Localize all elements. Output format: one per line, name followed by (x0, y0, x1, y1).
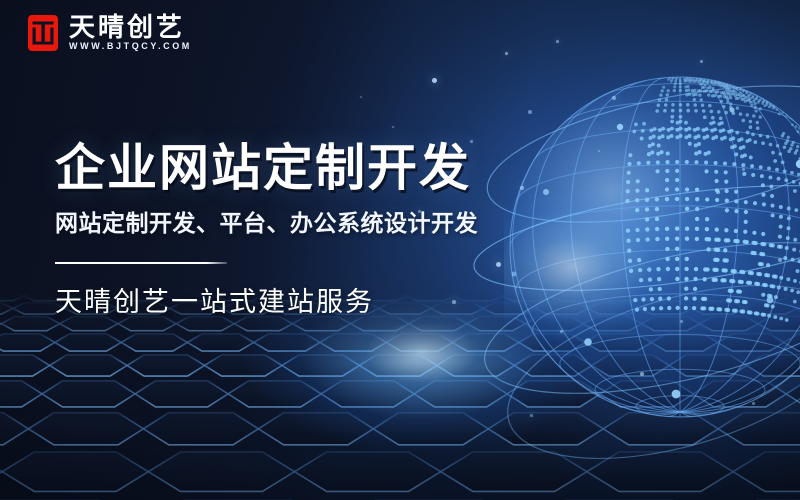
tagline: 天晴创艺一站式建站服务 (55, 286, 575, 318)
brand-logo[interactable]: 天晴创艺 WWW.BJTQCY.COM (28, 14, 192, 51)
hero-copy-block: 企业网站定制开发 网站定制开发、平台、办公系统设计开发 天晴创艺一站式建站服务 (55, 140, 575, 318)
banner-canvas: 天晴创艺 WWW.BJTQCY.COM 企业网站定制开发 网站定制开发、平台、办… (0, 0, 800, 500)
tianqing-chuangyi-logo-mark-icon (28, 15, 58, 51)
headline: 企业网站定制开发 (55, 140, 575, 196)
logo-company-name: 天晴创艺 (69, 14, 192, 40)
divider-rule (55, 262, 227, 264)
subheadline: 网站定制开发、平台、办公系统设计开发 (55, 210, 575, 238)
logo-website-url: WWW.BJTQCY.COM (69, 42, 192, 51)
